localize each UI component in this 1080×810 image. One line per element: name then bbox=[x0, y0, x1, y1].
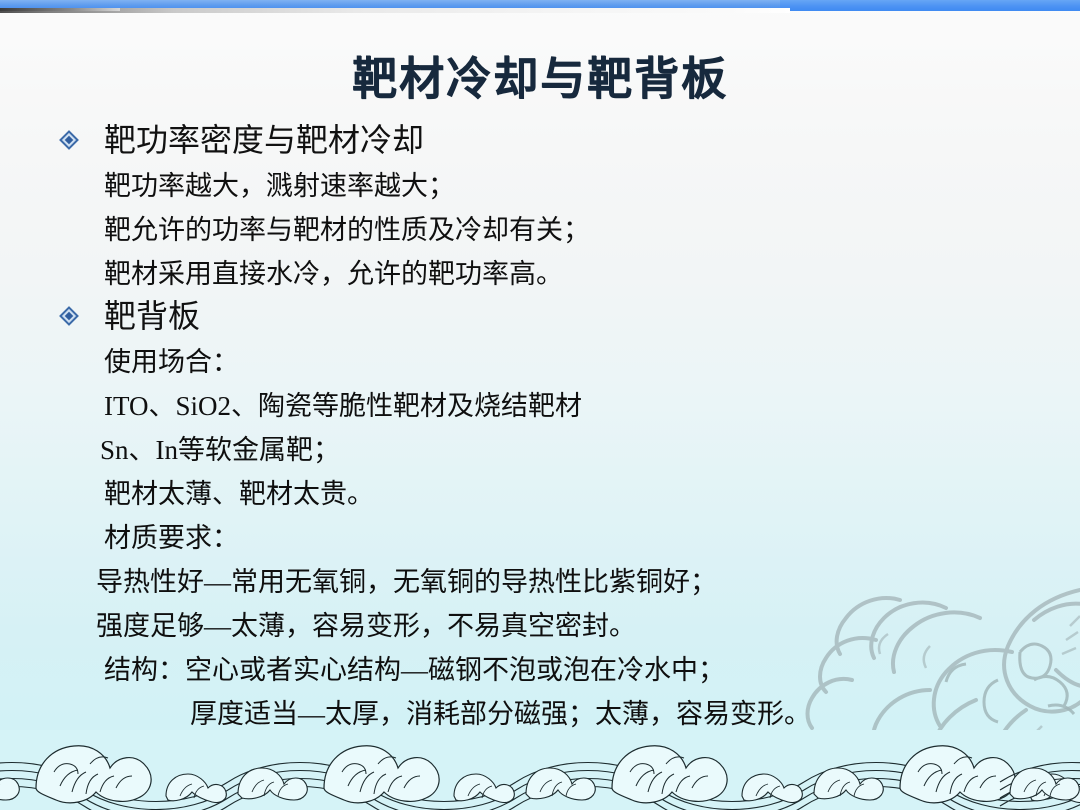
slide-canvas: 靶材冷却与靶背板 靶功率密度与靶材冷却 靶功率越大，溅射速率越大； 靶允许的功率… bbox=[0, 0, 1080, 810]
body-line: 靶材太薄、靶材太贵。 bbox=[0, 472, 1080, 516]
wave-pattern bbox=[0, 730, 1080, 810]
wave-pattern-svg bbox=[0, 730, 1080, 810]
slide-body: 靶功率密度与靶材冷却 靶功率越大，溅射速率越大； 靶允许的功率与靶材的性质及冷却… bbox=[0, 120, 1080, 736]
top-accent-band bbox=[0, 0, 1080, 13]
section-power-density: 靶功率密度与靶材冷却 靶功率越大，溅射速率越大； 靶允许的功率与靶材的性质及冷却… bbox=[0, 120, 1080, 296]
body-line: 材质要求： bbox=[0, 516, 1080, 560]
slide-title: 靶材冷却与靶背板 bbox=[0, 42, 1080, 107]
section-heading-row: 靶功率密度与靶材冷却 bbox=[0, 120, 1080, 164]
body-line: 结构：空心或者实心结构—磁钢不泡或泡在冷水中； bbox=[0, 648, 1080, 692]
body-line: 强度足够—太薄，容易变形，不易真空密封。 bbox=[0, 604, 1080, 648]
section-backing-plate: 靶背板 使用场合： ITO、SiO2、陶瓷等脆性靶材及烧结靶材 Sn、In等软金… bbox=[0, 296, 1080, 736]
diamond-bullet-icon bbox=[59, 306, 79, 326]
section-heading-label: 靶功率密度与靶材冷却 bbox=[104, 120, 424, 160]
body-line: 靶功率越大，溅射速率越大； bbox=[0, 164, 1080, 208]
body-line: 靶允许的功率与靶材的性质及冷却有关； bbox=[0, 208, 1080, 252]
top-gray-strip-dark bbox=[0, 8, 120, 11]
section-heading-label: 靶背板 bbox=[104, 296, 200, 336]
body-line: ITO、SiO2、陶瓷等脆性靶材及烧结靶材 bbox=[0, 384, 1080, 428]
section-heading-row: 靶背板 bbox=[0, 296, 1080, 340]
body-line: 导热性好—常用无氧铜，无氧铜的导热性比紫铜好； bbox=[0, 560, 1080, 604]
body-line: Sn、In等软金属靶； bbox=[0, 428, 1080, 472]
diamond-bullet-icon bbox=[59, 130, 79, 150]
body-line: 靶材采用直接水冷，允许的靶功率高。 bbox=[0, 252, 1080, 296]
top-blue-strip-right bbox=[780, 0, 1080, 11]
body-line: 使用场合： bbox=[0, 340, 1080, 384]
